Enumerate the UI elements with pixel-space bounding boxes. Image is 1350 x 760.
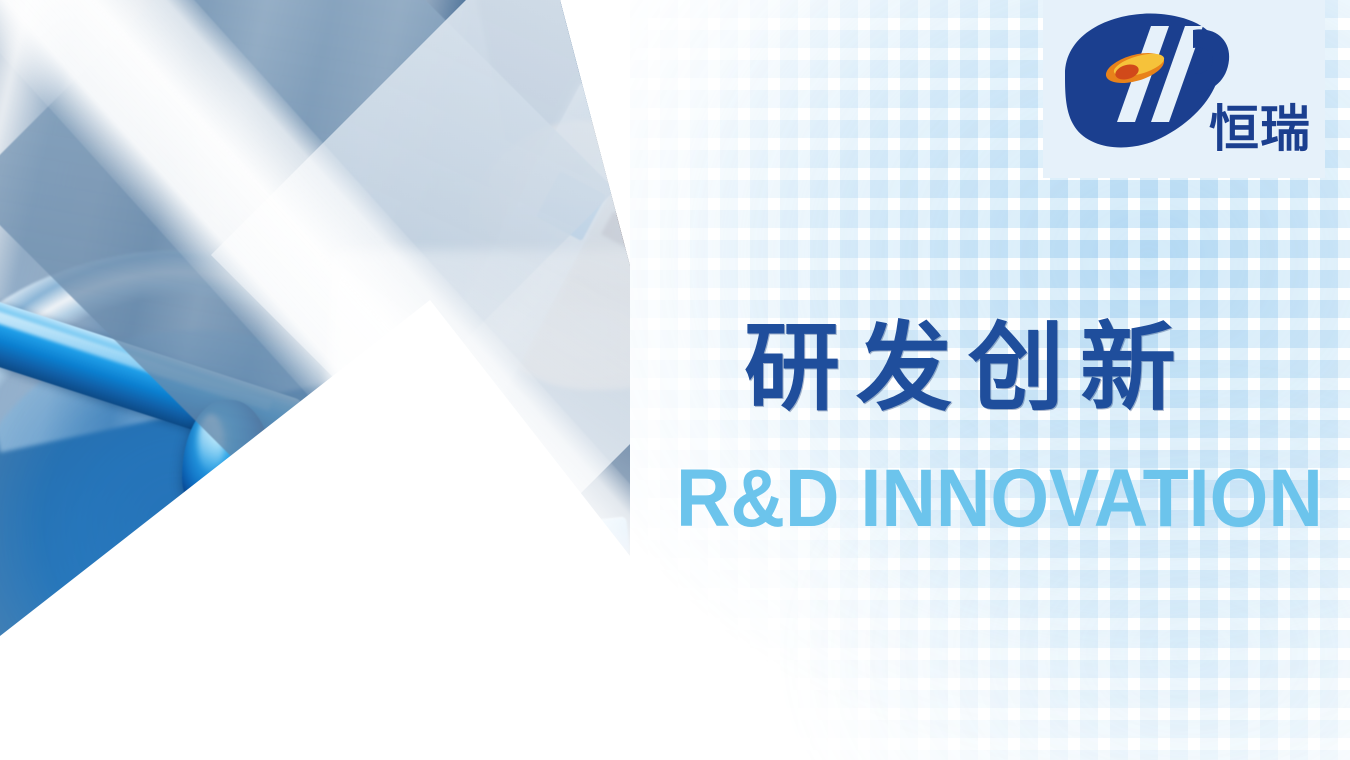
rd-innovation-banner: 恒瑞 研发创新 R&D INNOVATION: [0, 0, 1350, 760]
logo-company-name: 恒瑞: [1209, 104, 1311, 154]
banner-title-english: R&D INNOVATION: [676, 458, 1323, 540]
logo-box[interactable]: 恒瑞: [1043, 0, 1325, 178]
banner-title-chinese: 研发创新: [744, 318, 1192, 419]
